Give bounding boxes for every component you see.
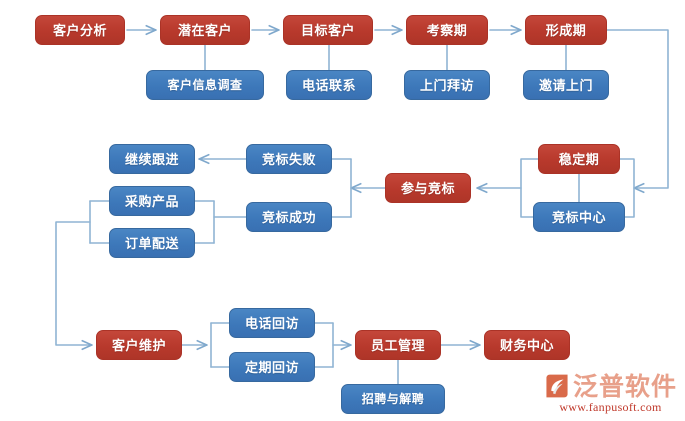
node-bid-failed[interactable]: 竞标失败 — [246, 144, 332, 174]
node-onsite-visit[interactable]: 上门拜访 — [404, 70, 490, 100]
node-customer-info-survey[interactable]: 客户信息调查 — [146, 70, 264, 100]
node-purchase-product[interactable]: 采购产品 — [109, 186, 195, 216]
node-phone-contact[interactable]: 电话联系 — [286, 70, 372, 100]
node-bid-succeeded[interactable]: 竞标成功 — [246, 202, 332, 232]
node-periodic-revisit[interactable]: 定期回访 — [229, 352, 315, 382]
node-potential-customer[interactable]: 潜在客户 — [160, 15, 250, 45]
brand-watermark: 泛普软件 www.fanpusoft.com — [544, 373, 677, 415]
node-continue-followup[interactable]: 继续跟进 — [109, 144, 195, 174]
brand-url: www.fanpusoft.com — [544, 400, 677, 415]
brand-name: 泛普软件 — [573, 374, 677, 399]
node-inspection-period[interactable]: 考察期 — [406, 15, 488, 45]
node-order-delivery[interactable]: 订单配送 — [109, 228, 195, 258]
node-customer-analysis[interactable]: 客户分析 — [35, 15, 125, 45]
node-formation-period[interactable]: 形成期 — [525, 15, 607, 45]
node-hire-and-dismiss[interactable]: 招聘与解聘 — [341, 384, 445, 414]
fanpu-logo-icon — [544, 373, 570, 399]
wire-loopback-n18 — [56, 222, 92, 345]
node-finance-center[interactable]: 财务中心 — [484, 330, 570, 360]
flowchart-canvas: 客户分析 潜在客户 目标客户 考察期 形成期 客户信息调查 电话联系 上门拜访 … — [0, 0, 685, 421]
node-stable-period[interactable]: 稳定期 — [538, 144, 620, 174]
node-customer-maintenance[interactable]: 客户维护 — [96, 330, 182, 360]
node-employee-management[interactable]: 员工管理 — [355, 330, 441, 360]
node-bidding-center[interactable]: 竞标中心 — [533, 202, 625, 232]
node-target-customer[interactable]: 目标客户 — [283, 15, 373, 45]
node-participate-bidding[interactable]: 参与竞标 — [385, 173, 471, 203]
node-phone-revisit[interactable]: 电话回访 — [229, 308, 315, 338]
node-invite-onsite[interactable]: 邀请上门 — [523, 70, 609, 100]
brand-mark: 泛普软件 — [544, 373, 677, 399]
